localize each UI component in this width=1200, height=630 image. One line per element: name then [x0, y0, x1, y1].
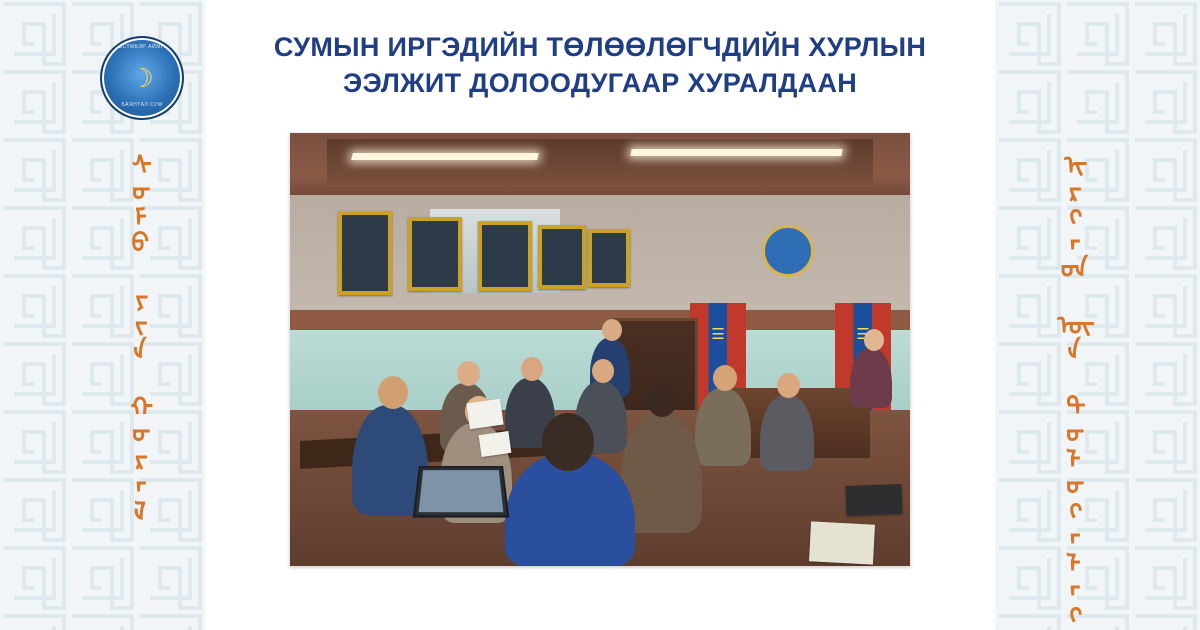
soyombo-icon: ☽ — [130, 65, 153, 91]
mongolian-script-right: ᠢᠷᠭᠡᠳ ᠦᠨ ᠲᠥᠯᠥᠭᠡᠯᠡᠭᠴᠢ — [1052, 150, 1082, 630]
right-decorative-panel — [995, 0, 1200, 630]
presentation-slide: ГОВЬСҮМБЭР АЙМГИЙН ☽ БАЯНТАЛ СУМ СУМЫН И… — [0, 0, 1200, 630]
framed-picture — [588, 229, 630, 287]
emblem-ring-text-bottom: БАЯНТАЛ СУМ — [102, 102, 182, 118]
framed-picture — [538, 225, 586, 289]
attendee-head — [592, 359, 614, 383]
document-sheet — [809, 521, 875, 564]
attendee — [695, 388, 751, 466]
ceiling-lamp — [630, 149, 842, 156]
attendee-head — [457, 361, 480, 386]
meeting-hall-photograph: ☰ ☰ — [290, 133, 910, 566]
soyombo-icon: ☰ — [711, 325, 724, 343]
attendee-head — [521, 357, 543, 381]
aimag-emblem-icon: ГОВЬСҮМБЭР АЙМГИЙН ☽ БАЯНТАЛ СУМ — [100, 36, 184, 120]
photo-frame: ☰ ☰ — [290, 133, 910, 566]
ceiling — [290, 133, 910, 203]
mongolian-script-left: ᠰᠤᠮᠤ ᠶᠢᠨ ᠬᠤᠷᠠᠯ — [118, 150, 148, 522]
framed-picture — [408, 217, 462, 291]
laptop-screen — [419, 470, 504, 512]
framed-picture — [338, 211, 392, 295]
attendee-head — [864, 329, 884, 351]
framed-picture — [478, 221, 532, 291]
attendee-head — [713, 365, 737, 391]
slide-title: СУМЫН ИРГЭДИЙН ТӨЛӨӨЛӨГЧДИЙН ХУРЛЫН ЭЭЛЖ… — [205, 30, 995, 101]
laptop — [413, 466, 510, 518]
meander-pattern-right — [995, 0, 1200, 630]
attendee — [760, 395, 814, 471]
state-seal-icon — [762, 225, 814, 277]
attendee — [850, 348, 892, 408]
attendee-head — [542, 413, 594, 471]
attendee-head — [602, 319, 622, 341]
attendee-head — [777, 373, 800, 398]
ceiling-inner-panel — [327, 139, 873, 185]
attendee-head — [647, 383, 677, 417]
attendee-head — [378, 376, 408, 409]
document-sheet — [479, 431, 512, 457]
ceiling-lamp — [351, 153, 539, 160]
folder — [845, 484, 902, 516]
wall-trim-band — [290, 310, 910, 330]
title-line-2: ЭЭЛЖИТ ДОЛООДУГААР ХУРАЛДААН — [205, 66, 995, 102]
title-line-1: СУМЫН ИРГЭДИЙН ТӨЛӨӨЛӨГЧДИЙН ХУРЛЫН — [205, 30, 995, 66]
document-sheet — [466, 399, 503, 429]
